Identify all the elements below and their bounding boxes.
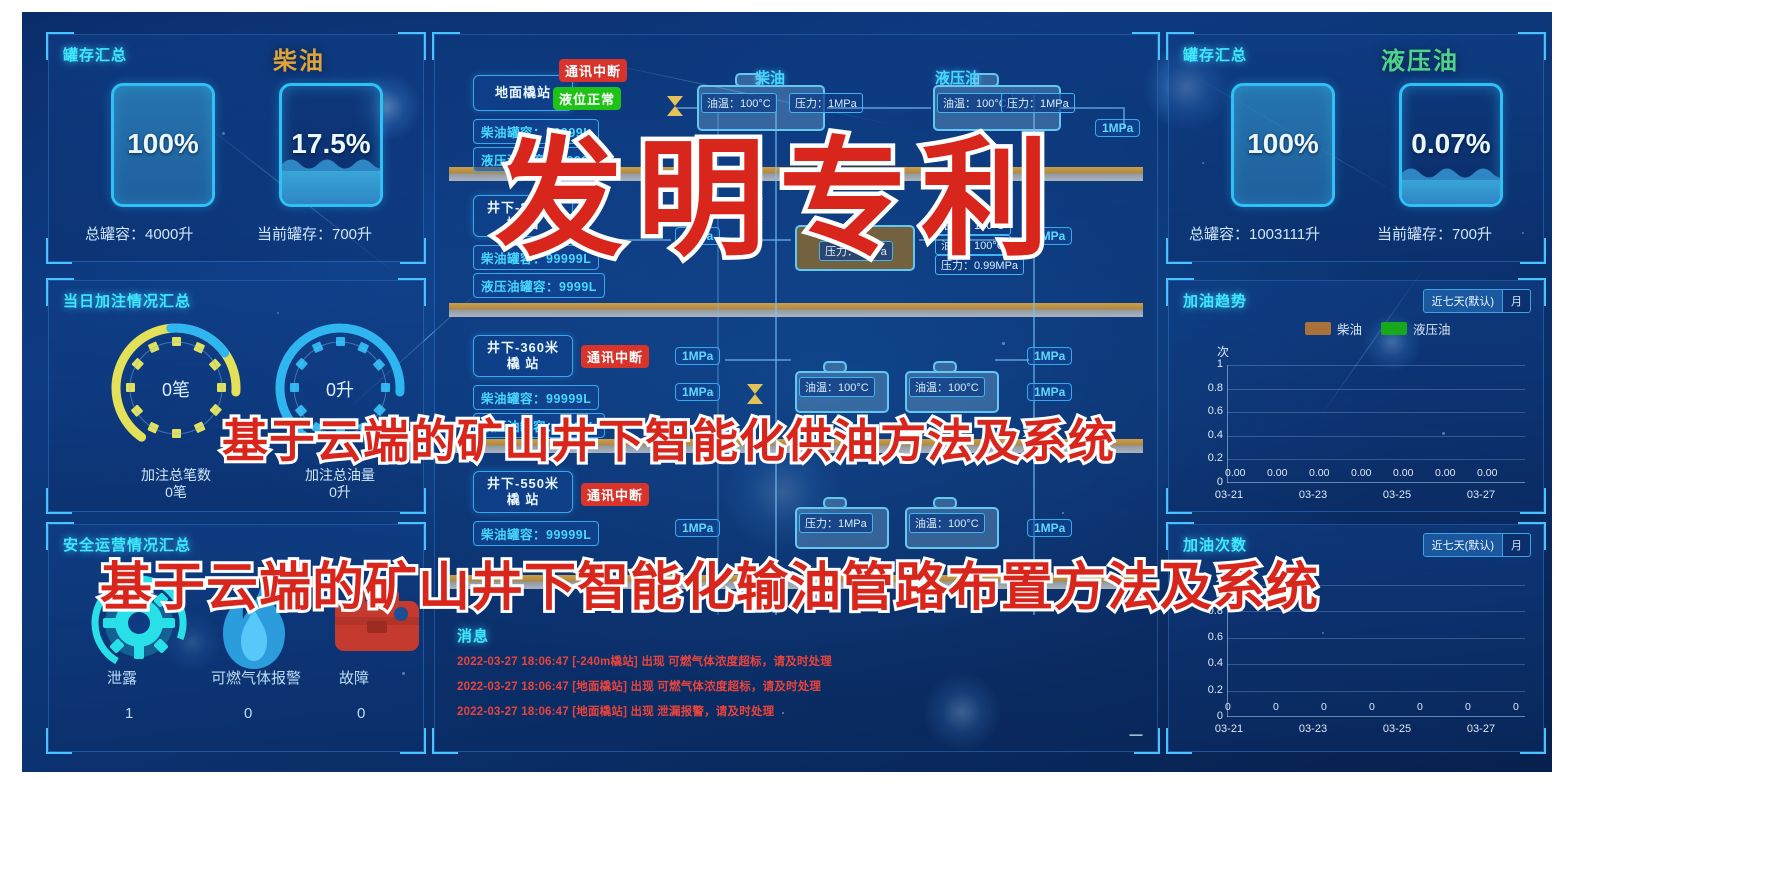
gridline (1227, 664, 1525, 665)
product-name-label: 液压油 (1381, 41, 1459, 76)
caption-line-2: 0升 (329, 484, 351, 500)
message-line: 2022-03-27 18:06:47 [地面橇站] 出现 泄漏报警，请及时处理 (457, 703, 774, 719)
legend-item-hydraulic[interactable]: 液压油 (1381, 319, 1451, 338)
station-label: 井下-360米 橇 站 (487, 340, 559, 372)
y-tick: 1 (1199, 358, 1223, 370)
gridline (1227, 365, 1525, 366)
data-point-label: 0 (1225, 701, 1231, 713)
oil-temp-chip: 油温：100°C (909, 377, 985, 397)
refuel-count-caption: 加注总笔数 0笔 (109, 467, 243, 501)
current-stock-tank: 0.07% (1399, 83, 1503, 207)
gauge-center-value: 0笔 (101, 376, 251, 402)
station-label-line2: 橇 站 (507, 492, 540, 507)
y-tick: 0.2 (1193, 452, 1223, 464)
oil-temp-chip: 压力：1MPa (799, 513, 873, 533)
pipe-segment (725, 359, 791, 361)
valve-icon (745, 381, 765, 407)
underground-360m-station-box[interactable]: 井下-360米 橇 站 (473, 335, 573, 377)
tank-equipment (823, 497, 847, 509)
y-tick: 0.8 (1193, 382, 1223, 394)
product-name-label: 柴油 (273, 41, 325, 76)
pressure-tag: 1MPa (1095, 119, 1140, 137)
total-capacity-tank: 100% (1231, 83, 1335, 207)
x-tick: 03-25 (1377, 489, 1417, 501)
page-margin-bottom (0, 772, 1771, 885)
watermark-line-2: 基于云端的矿山井下智能化输油管路布置方法及系统 (100, 545, 1319, 620)
current-stock-caption: 当前罐存：700升 (1377, 223, 1492, 244)
legend-swatch-diesel (1305, 322, 1331, 335)
total-capacity-caption: 总罐容：1003111升 (1189, 223, 1320, 244)
message-line: 2022-03-27 18:06:47 [-240m橇站] 出现 可燃气体浓度超… (457, 653, 832, 669)
tank-fill (1402, 178, 1500, 204)
leak-label: 泄露 (107, 667, 137, 688)
pressure-tag: 1MPa (1027, 519, 1072, 537)
station-label-line1: 井下-360米 (487, 340, 559, 355)
y-tick: 0.6 (1193, 631, 1223, 643)
tank-equipment (933, 361, 957, 373)
station-status-badge-comm: 通讯中断 (581, 483, 649, 506)
legend-label-diesel: 柴油 (1337, 319, 1362, 338)
screenshot-root: 罐存汇总 柴油 100% 总罐容：4000升 17.5% 当前罐存：700升 当… (0, 0, 1771, 885)
gridline (1227, 412, 1525, 413)
data-point-label: 0.00 (1435, 467, 1455, 479)
y-tick: 0 (1199, 710, 1223, 722)
legend-item-diesel[interactable]: 柴油 (1305, 319, 1362, 338)
zoom-out-button[interactable]: － (1127, 729, 1145, 743)
gridline (1227, 691, 1525, 692)
watermark-line-1: 基于云端的矿山井下智能化供油方法及系统 (222, 405, 1115, 471)
pressure-tag: 1MPa (1027, 347, 1072, 365)
x-tick: 03-21 (1209, 489, 1249, 501)
y-tick: 0.4 (1193, 429, 1223, 441)
tank-summary-diesel-panel: 罐存汇总 柴油 100% 总罐容：4000升 17.5% 当前罐存：700升 (48, 34, 424, 262)
refuel-volume-caption: 加注总油量 0升 (273, 467, 407, 501)
x-tick: 03-25 (1377, 723, 1417, 735)
x-tick: 03-21 (1209, 723, 1249, 735)
gridline (1227, 389, 1525, 390)
tank-equipment (933, 497, 957, 509)
y-tick: 0.4 (1193, 657, 1223, 669)
y-tick: 0.6 (1193, 405, 1223, 417)
tank-fill (282, 169, 380, 204)
page-margin-left (0, 0, 22, 885)
daily-refuel-summary-panel: 当日加注情况汇总 (48, 280, 424, 512)
x-axis (1227, 716, 1525, 717)
page-margin-top (0, 0, 1771, 12)
x-axis (1227, 482, 1525, 483)
data-point-label: 0 (1369, 701, 1375, 713)
tank-equipment (735, 73, 761, 87)
legend-swatch-hydraulic (1381, 322, 1407, 335)
data-point-label: 0 (1321, 701, 1327, 713)
legend-label-hydraulic: 液压油 (1413, 319, 1451, 338)
trend-plot-area: 0.00 0.00 0.00 0.00 0.00 0.00 0.00 (1227, 365, 1525, 483)
gas-alarm-value: 0 (244, 705, 252, 722)
tank-percent-label: 100% (1234, 128, 1332, 160)
data-point-label: 0 (1465, 701, 1471, 713)
pressure-tag: 1MPa (1027, 383, 1072, 401)
gauge-center-value: 0升 (265, 376, 415, 402)
messages-title: 消息 (457, 625, 489, 646)
panel-title: 罐存汇总 (1183, 44, 1247, 65)
data-point-label: 0 (1417, 701, 1423, 713)
range-option-month[interactable]: 月 (1502, 290, 1530, 312)
data-point-label: 0.00 (1309, 467, 1329, 479)
data-point-label: 0.00 (1351, 467, 1371, 479)
leak-value: 1 (125, 705, 133, 722)
oil-temp-chip: 油温：100°C (799, 377, 875, 397)
tank-equipment (823, 361, 847, 373)
data-point-label: 0.00 (1477, 467, 1497, 479)
station-status-badge-comm: 通讯中断 (581, 345, 649, 368)
data-point-label: 0 (1273, 701, 1279, 713)
pipe-segment (1061, 107, 1123, 109)
pipe-segment (995, 359, 1029, 361)
total-capacity-caption: 总罐容：4000升 (85, 223, 193, 244)
station-label-line1: 井下-550米 (487, 476, 559, 491)
station-label-line2: 橇 站 (507, 356, 540, 371)
gridline (1227, 638, 1525, 639)
pressure-tag: 1MPa (675, 347, 720, 365)
count-range-selector[interactable]: 近七天(默认) 月 (1423, 533, 1531, 557)
x-tick: 03-23 (1293, 489, 1333, 501)
underground-550m-station-box[interactable]: 井下-550米 橇 站 (473, 471, 573, 513)
data-point-label: 0 (1513, 701, 1519, 713)
fault-label: 故障 (339, 667, 369, 688)
refuel-trend-panel: 加油趋势 近七天(默认) 月 柴油 液压油 次 (1168, 280, 1544, 512)
tank-percent-label: 0.07% (1402, 128, 1500, 160)
wave-icon (1402, 164, 1503, 180)
station-diesel-capacity: 柴油罐容：99999L (473, 521, 599, 546)
data-point-label: 0.00 (1267, 467, 1287, 479)
station-label: 井下-550米 橇 站 (487, 476, 559, 508)
range-option-week[interactable]: 近七天(默认) (1424, 534, 1502, 556)
panel-title: 加油趋势 (1183, 290, 1247, 311)
station-status-badge-comm: 通讯中断 (559, 59, 627, 82)
range-option-month[interactable]: 月 (1502, 534, 1530, 556)
y-tick: 0 (1199, 476, 1223, 488)
oil-temp-chip: 油温：100°C (909, 513, 985, 533)
trend-range-selector[interactable]: 近七天(默认) 月 (1423, 289, 1531, 313)
pressure-tag: 1MPa (675, 383, 720, 401)
panel-title: 罐存汇总 (63, 44, 127, 65)
watermark-headline: 发明专利 (495, 95, 1063, 280)
data-point-label: 0.00 (1225, 467, 1245, 479)
pressure-tag: 1MPa (675, 519, 720, 537)
current-stock-caption: 当前罐存：700升 (257, 223, 372, 244)
tank-percent-label: 100% (114, 128, 212, 160)
tank-summary-hydraulic-panel: 罐存汇总 液压油 100% 总罐容：1003111升 0.07% 当前罐存：70… (1168, 34, 1544, 262)
tank-equipment (973, 73, 999, 87)
y-tick: 0.2 (1193, 684, 1223, 696)
pipe-segment (1123, 107, 1125, 129)
total-capacity-tank: 100% (111, 83, 215, 207)
x-tick: 03-27 (1461, 489, 1501, 501)
gridline (1227, 436, 1525, 437)
data-point-label: 0.00 (1393, 467, 1413, 479)
x-tick: 03-27 (1461, 723, 1501, 735)
deck-line (449, 303, 1143, 317)
panel-title: 当日加注情况汇总 (63, 290, 191, 311)
tank-percent-label: 17.5% (282, 128, 380, 160)
caption-line-1: 加注总笔数 (141, 467, 211, 483)
range-option-week[interactable]: 近七天(默认) (1424, 290, 1502, 312)
x-tick: 03-23 (1293, 723, 1333, 735)
message-line: 2022-03-27 18:06:47 [地面橇站] 出现 可燃气体浓度超标，请… (457, 678, 821, 694)
gas-alarm-label: 可燃气体报警 (211, 667, 301, 688)
fault-value: 0 (357, 705, 365, 722)
caption-line-2: 0笔 (165, 484, 187, 500)
page-margin-right (1552, 0, 1771, 885)
y-axis (1227, 365, 1228, 483)
current-stock-tank: 17.5% (279, 83, 383, 207)
gridline (1227, 459, 1525, 460)
